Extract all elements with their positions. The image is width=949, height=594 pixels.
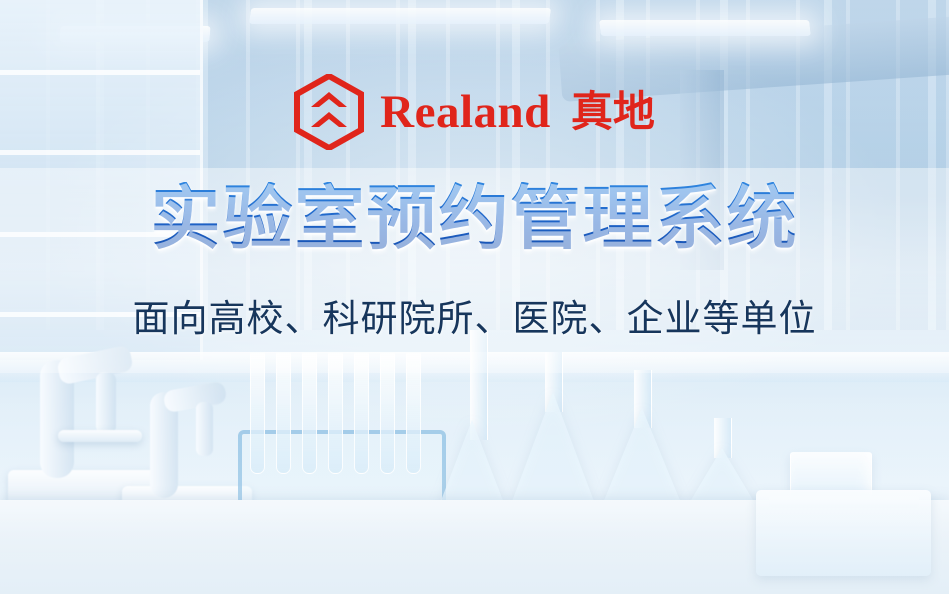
- page-subtitle: 面向高校、科研院所、医院、企业等单位: [0, 297, 949, 341]
- brand-wordmark-cn: 真地: [571, 91, 655, 133]
- page-title: 实验室预约管理系统: [0, 182, 949, 256]
- realand-hexagon-chevron-logo-icon: [294, 74, 364, 150]
- marketing-banner: Realand 真地 实验室预约管理系统 实验室预约管理系统 面向高校、科研院所…: [0, 0, 949, 594]
- brand-wordmark: Realand: [380, 89, 551, 136]
- brand-lockup: Realand 真地: [0, 74, 949, 150]
